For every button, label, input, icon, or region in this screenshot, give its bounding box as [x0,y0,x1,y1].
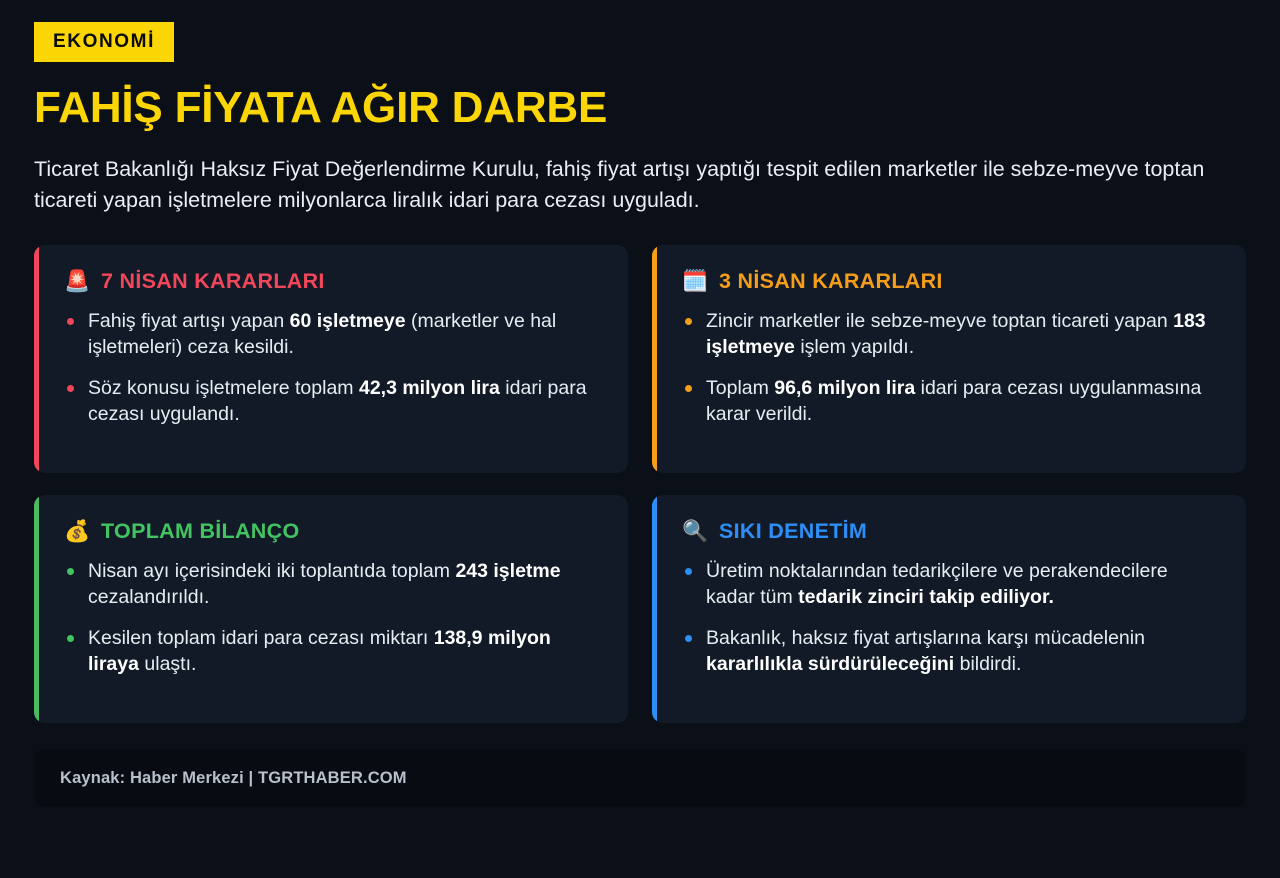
body-text: cezalandırıldı. [88,586,209,608]
card-toplam-bilanco: 💰TOPLAM BİLANÇONisan ayı içerisindeki ik… [34,495,628,723]
body-text: Bakanlık, haksız fiyat artışlarına karşı… [706,627,1145,649]
card-grid: 🚨7 NİSAN KARARLARIFahiş fiyat artışı yap… [34,245,1246,723]
highlight-text: 96,6 milyon lira [774,377,915,399]
calendar-icon: 🗓️ [682,271,706,292]
source-text: Kaynak: Haber Merkezi | TGRTHABER.COM [60,769,407,788]
money-bag-icon: 💰 [64,521,88,542]
body-text: Kesilen toplam idari para cezası miktarı [88,627,434,649]
card-header: 🚨7 NİSAN KARARLARI [64,271,600,293]
body-text: bildirdi. [954,653,1021,675]
page-title: FAHİŞ FİYATA AĞIR DARBE [34,85,1246,131]
card-bullet-list: Fahiş fiyat artışı yapan 60 işletmeye (m… [64,308,600,428]
card-title: TOPLAM BİLANÇO [101,521,300,543]
card-header: 🔍SIKI DENETİM [682,521,1218,543]
list-item: Kesilen toplam idari para cezası miktarı… [64,625,600,677]
source-footer: Kaynak: Haber Merkezi | TGRTHABER.COM [34,749,1246,807]
card-accent-bar [34,245,39,473]
list-item: Toplam 96,6 milyon lira idari para cezas… [682,375,1218,427]
body-text: ulaştı. [139,653,196,675]
card-bullet-list: Nisan ayı içerisindeki iki toplantıda to… [64,558,600,678]
card-title: 3 NİSAN KARARLARI [719,271,943,293]
list-item: Üretim noktalarından tedarikçilere ve pe… [682,558,1218,610]
list-item: Nisan ayı içerisindeki iki toplantıda to… [64,558,600,610]
card-header: 💰TOPLAM BİLANÇO [64,521,600,543]
highlight-text: 243 işletme [455,560,560,582]
card-bullet-list: Üretim noktalarından tedarikçilere ve pe… [682,558,1218,678]
list-item: Zincir marketler ile sebze-meyve toptan … [682,308,1218,360]
list-item: Söz konusu işletmelere toplam 42,3 milyo… [64,375,600,427]
card-accent-bar [34,495,39,723]
highlight-text: 60 işletmeye [290,310,406,332]
body-text: işlem yapıldı. [795,336,914,358]
body-text: Toplam [706,377,774,399]
summary-paragraph: Ticaret Bakanlığı Haksız Fiyat Değerlend… [34,154,1214,215]
card-title: SIKI DENETİM [719,521,867,543]
card-7-nisan-kararlari: 🚨7 NİSAN KARARLARIFahiş fiyat artışı yap… [34,245,628,473]
magnifying-glass-icon: 🔍 [682,521,706,542]
body-text: Fahiş fiyat artışı yapan [88,310,290,332]
card-title: 7 NİSAN KARARLARI [101,271,325,293]
body-text: Zincir marketler ile sebze-meyve toptan … [706,310,1173,332]
body-text: Nisan ayı içerisindeki iki toplantıda to… [88,560,455,582]
police-car-light-icon: 🚨 [64,271,88,292]
list-item: Bakanlık, haksız fiyat artışlarına karşı… [682,625,1218,677]
highlight-text: 42,3 milyon lira [359,377,500,399]
card-3-nisan-kararlari: 🗓️3 NİSAN KARARLARIZincir marketler ile … [652,245,1246,473]
infographic-root: EKONOMİ FAHİŞ FİYATA AĞIR DARBE Ticaret … [0,0,1280,878]
highlight-text: kararlılıkla sürdürüleceğini [706,653,954,675]
category-badge: EKONOMİ [34,22,174,62]
body-text: Söz konusu işletmelere toplam [88,377,359,399]
highlight-text: tedarik zinciri takip ediliyor. [798,586,1054,608]
card-accent-bar [652,495,657,723]
list-item: Fahiş fiyat artışı yapan 60 işletmeye (m… [64,308,600,360]
card-accent-bar [652,245,657,473]
card-siki-denetim: 🔍SIKI DENETİMÜretim noktalarından tedari… [652,495,1246,723]
card-bullet-list: Zincir marketler ile sebze-meyve toptan … [682,308,1218,428]
card-header: 🗓️3 NİSAN KARARLARI [682,271,1218,293]
